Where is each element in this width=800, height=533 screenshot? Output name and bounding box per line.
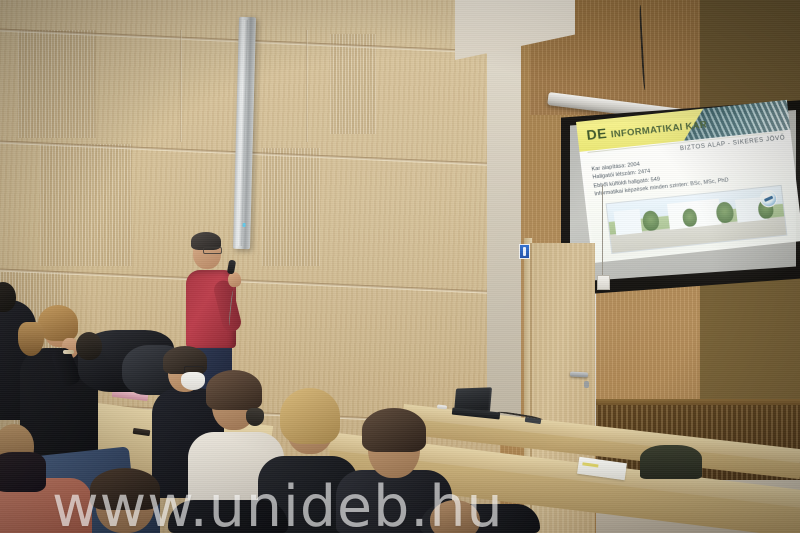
audience-hair (206, 370, 262, 410)
chair (640, 445, 702, 479)
door-lock (584, 381, 589, 388)
audience-hair (38, 305, 78, 341)
blue-information-sign (519, 244, 530, 259)
presenter-glasses (203, 247, 222, 254)
audience-shoulder (0, 452, 46, 492)
audience-hair (90, 468, 160, 510)
wall-seam (306, 30, 308, 142)
tree (715, 201, 734, 224)
door-handle (570, 372, 588, 378)
tree (642, 210, 660, 232)
audience-torso (168, 500, 288, 533)
audience-head (430, 500, 480, 533)
plaster-column (487, 0, 521, 430)
fluted-panel (330, 34, 376, 134)
projected-slide: DE INFORMATIKAI KAR BIZTOS ALAP - SIKERE… (576, 100, 800, 263)
speaker-led-icon (243, 223, 246, 227)
screen-control-switch (597, 275, 610, 290)
fluted-panel (262, 148, 320, 266)
fluted-panel (18, 30, 96, 138)
ponytail (18, 322, 44, 356)
face-mask (181, 372, 205, 390)
building (614, 209, 643, 236)
bracelet (63, 350, 74, 354)
lecture-hall-photo: DE INFORMATIKAI KAR BIZTOS ALAP - SIKERE… (0, 0, 800, 533)
brand-de-label: DE (586, 125, 608, 143)
wall-seam (180, 30, 182, 142)
audience-head (76, 332, 102, 360)
switch-cord (602, 185, 603, 277)
fluted-panel (40, 144, 132, 266)
campus-building-photo (606, 185, 788, 254)
face-mask (246, 408, 264, 426)
audience-hair (362, 408, 426, 452)
audience-hair (280, 388, 340, 444)
